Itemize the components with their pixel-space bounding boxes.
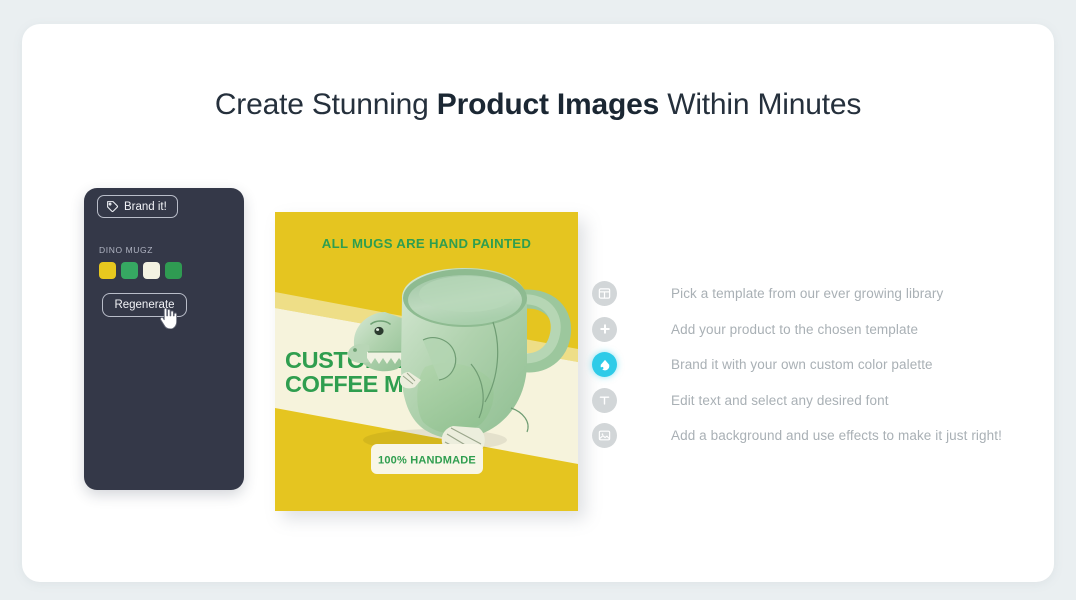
feature-item-add-product[interactable]: Add your product to the chosen template <box>592 312 1032 348</box>
page-title-part1: Create Stunning <box>215 88 437 121</box>
brand-it-button[interactable]: Brand it! <box>97 195 178 218</box>
swatch-yellow[interactable] <box>99 262 116 279</box>
feature-item-template[interactable]: Pick a template from our ever growing li… <box>592 276 1032 312</box>
feature-item-edit-text[interactable]: Edit text and select any desired font <box>592 383 1032 419</box>
plus-circle-icon <box>592 317 617 342</box>
page-title: Create Stunning Product Images Within Mi… <box>22 88 1054 122</box>
page-title-part2: Within Minutes <box>659 88 861 121</box>
color-palette-droplet-icon <box>592 352 617 377</box>
swatch-green[interactable] <box>121 262 138 279</box>
content-card: Create Stunning Product Images Within Mi… <box>22 24 1054 582</box>
feature-item-label: Edit text and select any desired font <box>671 393 889 408</box>
feature-item-label: Brand it with your own custom color pale… <box>671 357 933 372</box>
svg-text:ALL MUGS ARE HAND PAINTED: ALL MUGS ARE HAND PAINTED <box>322 236 531 251</box>
swatch-cream[interactable] <box>143 262 160 279</box>
color-swatch-list <box>99 262 182 279</box>
product-template-preview[interactable]: ALL MUGS ARE HAND PAINTED CUSTOMIZED COF… <box>275 212 578 511</box>
svg-text:100% HANDMADE: 100% HANDMADE <box>378 455 476 467</box>
page-title-emphasis: Product Images <box>437 88 659 121</box>
text-t-icon <box>592 388 617 413</box>
feature-item-label: Add a background and use effects to make… <box>671 428 1002 443</box>
page-root: Create Stunning Product Images Within Mi… <box>0 0 1076 600</box>
feature-list: Pick a template from our ever growing li… <box>592 276 1032 454</box>
feature-item-background[interactable]: Add a background and use effects to make… <box>592 418 1032 454</box>
feature-item-label: Pick a template from our ever growing li… <box>671 286 943 301</box>
tag-icon <box>106 200 119 213</box>
regenerate-button[interactable]: Regenerate <box>102 293 187 317</box>
swatch-dark-green[interactable] <box>165 262 182 279</box>
brand-it-button-label: Brand it! <box>124 201 167 213</box>
feature-item-brand[interactable]: Brand it with your own custom color pale… <box>592 347 1032 383</box>
palette-name-label: DINO MUGZ <box>99 245 153 255</box>
regenerate-button-label: Regenerate <box>114 299 174 311</box>
template-grid-icon <box>592 281 617 306</box>
image-background-icon <box>592 423 617 448</box>
feature-item-label: Add your product to the chosen template <box>671 322 918 337</box>
brand-editor-panel: Brand it! DINO MUGZ Regenerate <box>84 188 244 490</box>
